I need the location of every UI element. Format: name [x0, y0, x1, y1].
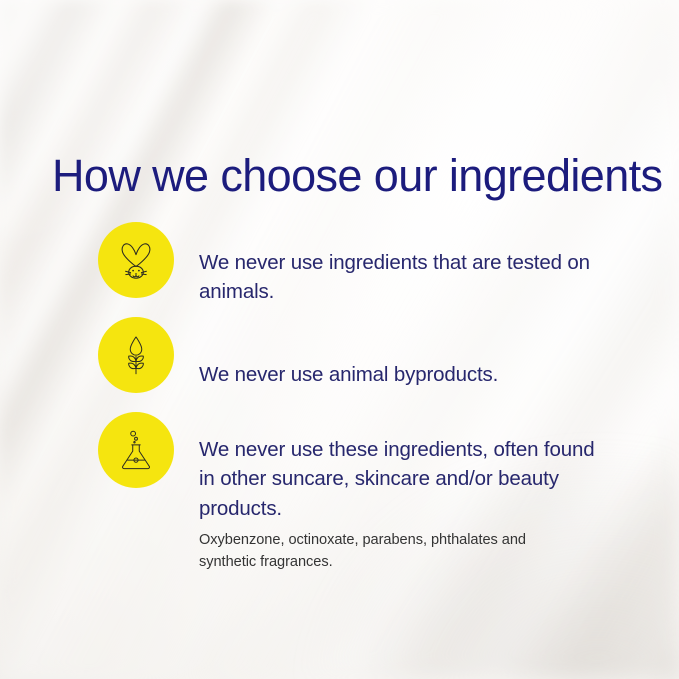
plant-droplet-icon — [113, 332, 159, 378]
feature-badge-cruelty-free — [98, 222, 174, 298]
flask-bubbles-icon — [113, 427, 159, 473]
bunny-heart-ears-icon — [112, 236, 160, 284]
ingredient-subnote: Oxybenzone, octinoxate, parabens, phthal… — [199, 529, 579, 574]
list-item-label: We never use these ingredients, often fo… — [199, 435, 614, 524]
card-content: How we choose our ingredients — [0, 0, 679, 679]
list-item-label: We never use ingredients that are tested… — [199, 248, 614, 307]
list-item-label: We never use animal byproducts. — [199, 360, 614, 390]
ingredients-promo-card: How we choose our ingredients — [0, 0, 679, 679]
feature-badge-no-animal-byproducts — [98, 317, 174, 393]
page-title: How we choose our ingredients — [52, 152, 652, 201]
feature-badge-no-harsh-chemicals — [98, 412, 174, 488]
